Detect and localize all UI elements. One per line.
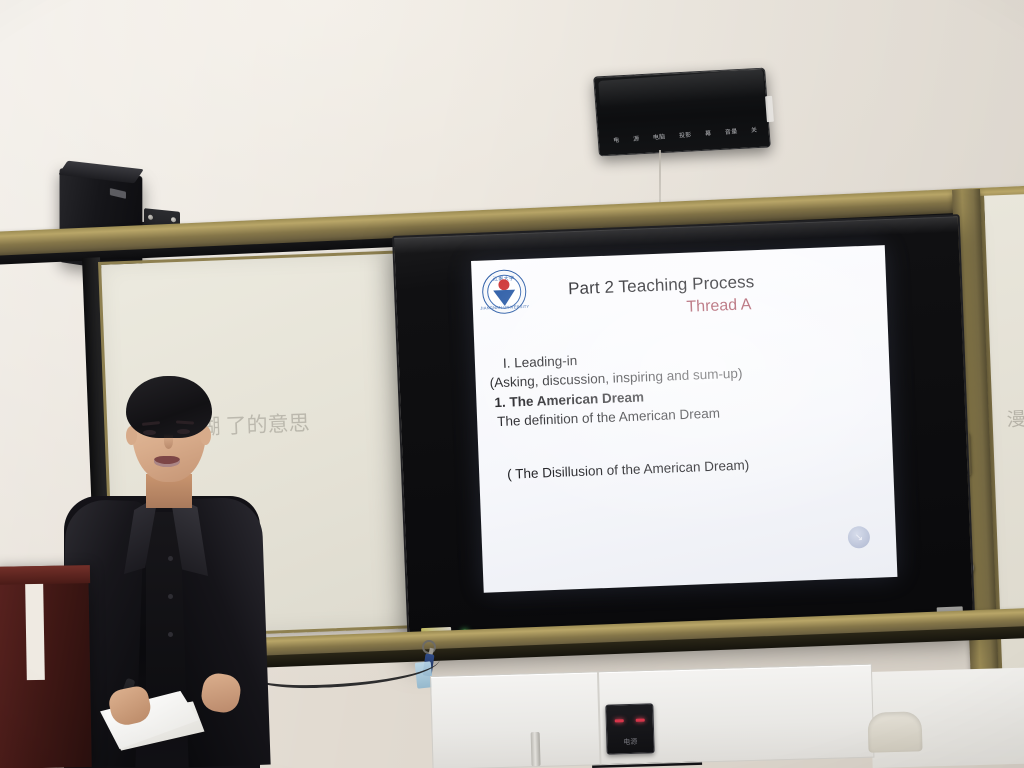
control-label-1: 源 bbox=[633, 134, 640, 143]
socket-label: 电源 bbox=[623, 737, 637, 747]
shirt-button bbox=[168, 594, 173, 599]
control-label-2: 电脑 bbox=[653, 132, 666, 142]
wall-duct bbox=[867, 711, 922, 752]
lectern-top-edge bbox=[0, 565, 90, 585]
control-label-6: 关 bbox=[751, 125, 758, 134]
slide-corner-badge-icon: ↘ bbox=[847, 526, 870, 549]
lecturer-nose bbox=[164, 434, 173, 449]
socket-led-icon bbox=[636, 719, 645, 722]
socket-led-icon bbox=[615, 719, 624, 722]
lecturer-eye bbox=[177, 429, 190, 434]
control-label-0: 电 bbox=[613, 135, 620, 144]
presentation-slide: 江南大学 JIANGNAN UNIVERSITY Part 2 Teaching… bbox=[471, 245, 897, 593]
control-panel[interactable]: 电 源 电脑 投影 幕 音量 关 bbox=[596, 72, 768, 152]
university-seal-icon: 江南大学 JIANGNAN UNIVERSITY bbox=[481, 269, 527, 315]
interactive-display[interactable]: 江南大学 JIANGNAN UNIVERSITY Part 2 Teaching… bbox=[392, 214, 976, 651]
wooden-lectern bbox=[0, 565, 92, 768]
shirt-button bbox=[168, 632, 173, 637]
shirt-button bbox=[168, 556, 173, 561]
lecturer-eye bbox=[143, 430, 156, 435]
lectern-cutout bbox=[25, 584, 45, 680]
control-label-3: 投影 bbox=[679, 130, 692, 140]
cabinet-handle[interactable] bbox=[531, 732, 541, 766]
cabinet-seam bbox=[597, 672, 602, 764]
slide-line-5: ( The Disillusion of the American Dream) bbox=[507, 452, 887, 482]
speaker-bolt bbox=[148, 215, 153, 221]
control-label-5: 音量 bbox=[725, 126, 738, 136]
wall-socket-panel[interactable]: 电源 bbox=[605, 703, 654, 754]
control-label-4: 幕 bbox=[705, 128, 712, 137]
slide-body: I. Leading-in (Asking, discussion, inspi… bbox=[489, 341, 888, 482]
lecturer-mouth bbox=[154, 456, 180, 467]
classroom-photo: 电 源 电脑 投影 幕 音量 关 糊 了的意思 漫 bbox=[0, 0, 1024, 768]
lecturer-hair bbox=[126, 376, 212, 438]
seal-bottom-text: JIANGNAN UNIVERSITY bbox=[480, 304, 529, 311]
speaker-bolt bbox=[171, 217, 176, 223]
whiteboard-right-writing: 漫 bbox=[1006, 404, 1024, 432]
speaker-badge bbox=[110, 188, 126, 199]
